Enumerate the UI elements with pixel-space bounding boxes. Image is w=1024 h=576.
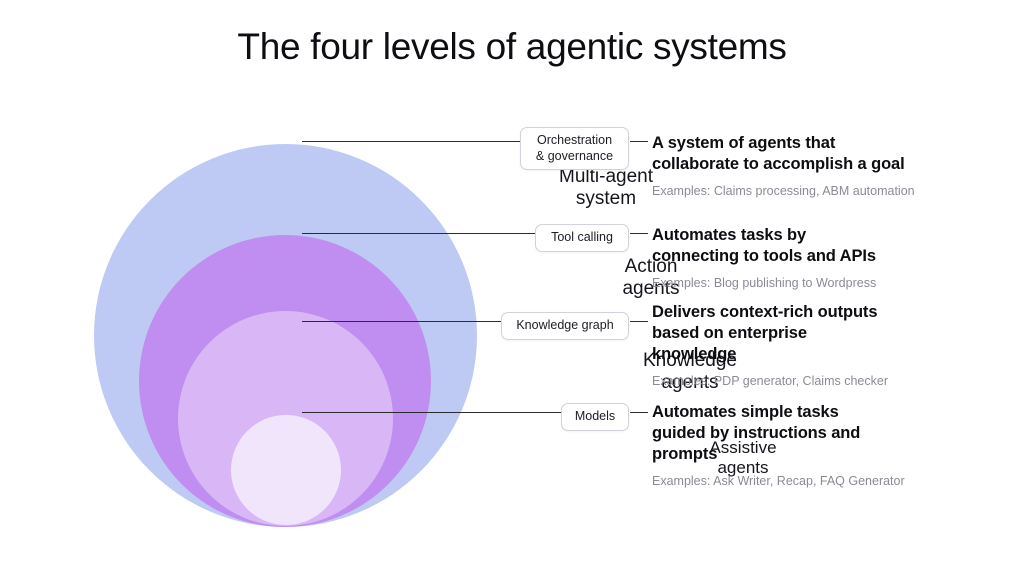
description-title-knowledge-agents: Delivers context-rich outputs based on e… — [652, 302, 982, 365]
connector-line-knowledge-agents — [302, 321, 501, 322]
connector-line-assistive-agents — [302, 412, 561, 413]
tag-orchestration-governance: Orchestration & governance — [520, 127, 629, 170]
description-block-assistive-agents: Automates simple tasks guided by instruc… — [652, 402, 982, 490]
connector-stub-assistive-agents — [630, 412, 648, 413]
connector-line-action-agents — [302, 233, 535, 234]
description-examples-multi-agent-system: Examples: Claims processing, ABM automat… — [652, 183, 982, 199]
description-examples-action-agents: Examples: Blog publishing to Wordpress — [652, 275, 982, 291]
description-title-action-agents: Automates tasks by connecting to tools a… — [652, 225, 982, 267]
tag-models: Models — [561, 403, 629, 431]
page-title: The four levels of agentic systems — [0, 26, 1024, 68]
description-title-multi-agent-system: A system of agents that collaborate to a… — [652, 133, 982, 175]
tag-knowledge-graph: Knowledge graph — [501, 312, 629, 340]
tag-tool-calling: Tool calling — [535, 224, 629, 252]
description-block-multi-agent-system: A system of agents that collaborate to a… — [652, 133, 982, 199]
connector-stub-action-agents — [630, 233, 648, 234]
description-examples-assistive-agents: Examples: Ask Writer, Recap, FAQ Generat… — [652, 473, 982, 489]
description-block-action-agents: Automates tasks by connecting to tools a… — [652, 225, 982, 291]
description-title-assistive-agents: Automates simple tasks guided by instruc… — [652, 402, 982, 465]
description-examples-knowledge-agents: Examples: PDP generator, Claims checker — [652, 373, 982, 389]
connector-stub-multi-agent-system — [630, 141, 648, 142]
connector-line-multi-agent-system — [302, 141, 520, 142]
description-block-knowledge-agents: Delivers context-rich outputs based on e… — [652, 302, 982, 390]
slide-canvas: The four levels of agentic systems Multi… — [0, 0, 1024, 576]
connector-stub-knowledge-agents — [630, 321, 648, 322]
